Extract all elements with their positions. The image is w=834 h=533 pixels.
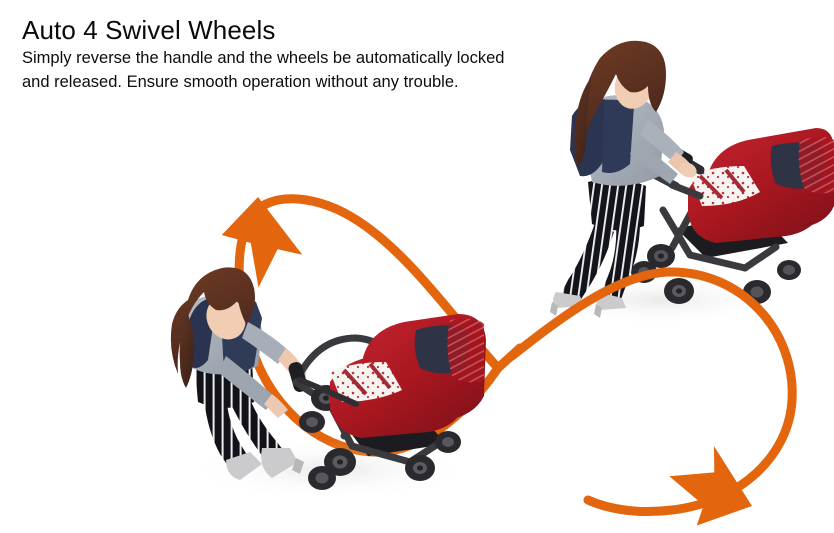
page-description: Simply reverse the handle and the wheels… bbox=[22, 47, 507, 94]
woman-lower-left bbox=[171, 267, 310, 480]
figure-lower-left bbox=[171, 267, 486, 500]
page-title: Auto 4 Swivel Wheels bbox=[22, 16, 522, 45]
canopy-stripe-lower bbox=[447, 319, 484, 383]
illustration-canvas: Auto 4 Swivel Wheels Simply reverse the … bbox=[0, 0, 834, 533]
text-block: Auto 4 Swivel Wheels Simply reverse the … bbox=[22, 16, 522, 94]
